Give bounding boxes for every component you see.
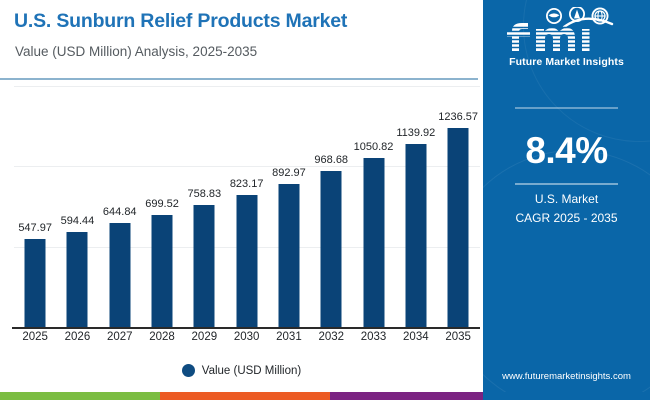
bar-column[interactable]: 1139.92 [395, 86, 437, 327]
fmi-logomark-icon [502, 7, 632, 55]
bar-column[interactable]: 1050.82 [352, 86, 394, 327]
bar-series: 547.97594.44644.84699.52758.83823.17892.… [0, 86, 483, 327]
bar[interactable] [109, 223, 130, 327]
x-tick-label: 2027 [99, 331, 141, 343]
x-axis-labels: 2025202620272028202920302031203220332034… [0, 331, 483, 353]
strip-segment-purple [330, 392, 483, 400]
bar-column[interactable]: 892.97 [268, 86, 310, 327]
page-subtitle: Value (USD Million) Analysis, 2025-2035 [15, 44, 257, 59]
chart-legend[interactable]: Value (USD Million) [0, 364, 483, 377]
bar-column[interactable]: 968.68 [310, 86, 352, 327]
bar[interactable] [448, 128, 469, 327]
cagr-period-label: CAGR 2025 - 2035 [483, 211, 650, 225]
x-tick-label: 2031 [268, 331, 310, 343]
bar[interactable] [405, 144, 426, 327]
bar-value-label: 644.84 [103, 206, 137, 218]
bar-column[interactable]: 1236.57 [437, 86, 479, 327]
bar-value-label: 1139.92 [396, 127, 435, 139]
plot-area: 547.97594.44644.84699.52758.83823.17892.… [0, 86, 483, 328]
website-url[interactable]: www.futuremarketinsights.com [483, 371, 650, 382]
bar-value-label: 823.17 [230, 178, 264, 190]
bar[interactable] [152, 215, 173, 327]
bar-value-label: 892.97 [272, 167, 306, 179]
bar-column[interactable]: 699.52 [141, 86, 183, 327]
bar-value-label: 547.97 [18, 222, 52, 234]
fmi-logo-tagline: Future Market Insights [509, 56, 624, 68]
bar-value-label: 1050.82 [354, 141, 394, 153]
x-tick-label: 2030 [226, 331, 268, 343]
bar[interactable] [321, 171, 342, 327]
strip-segment-green [0, 392, 160, 400]
header-divider [0, 78, 478, 80]
bar-value-label: 968.68 [314, 154, 348, 166]
x-tick-label: 2032 [310, 331, 352, 343]
bar-column[interactable]: 594.44 [56, 86, 98, 327]
panel-divider-top [515, 107, 618, 109]
x-tick-label: 2026 [56, 331, 98, 343]
cagr-value: 8.4% [483, 130, 650, 172]
chart-infographic: U.S. Sunburn Relief Products Market Valu… [0, 0, 650, 400]
bar-value-label: 594.44 [61, 215, 95, 227]
fmi-logo[interactable]: Future Market Insights [483, 7, 650, 69]
chart-header: U.S. Sunburn Relief Products Market Valu… [0, 0, 483, 79]
legend-item-label: Value (USD Million) [202, 365, 301, 377]
bottom-color-strip [0, 392, 650, 400]
x-tick-label: 2029 [183, 331, 225, 343]
cagr-market-label: U.S. Market [483, 192, 650, 206]
bar-value-label: 699.52 [145, 198, 179, 210]
strip-segment-orange [160, 392, 330, 400]
bar-column[interactable]: 823.17 [226, 86, 268, 327]
bar-column[interactable]: 644.84 [99, 86, 141, 327]
chart-pane: U.S. Sunburn Relief Products Market Valu… [0, 0, 483, 392]
bar-value-label: 758.83 [188, 188, 222, 200]
bar[interactable] [25, 239, 46, 327]
strip-segment-blue [483, 392, 650, 400]
x-tick-label: 2025 [14, 331, 56, 343]
bar[interactable] [278, 184, 299, 327]
x-tick-label: 2033 [352, 331, 394, 343]
circle-marker-icon [182, 364, 195, 377]
bar[interactable] [363, 158, 384, 327]
x-tick-label: 2034 [395, 331, 437, 343]
page-title: U.S. Sunburn Relief Products Market [14, 10, 347, 33]
x-axis-line [12, 327, 480, 329]
bar[interactable] [236, 195, 257, 327]
panel-divider-bottom [515, 183, 618, 185]
bar-value-label: 1236.57 [438, 111, 478, 123]
brand-panel: Future Market Insights 8.4% U.S. Market … [483, 0, 650, 392]
bar-column[interactable]: 758.83 [183, 86, 225, 327]
x-tick-label: 2035 [437, 331, 479, 343]
bar-column[interactable]: 547.97 [14, 86, 56, 327]
bar[interactable] [67, 232, 88, 328]
bar[interactable] [194, 205, 215, 327]
x-tick-label: 2028 [141, 331, 183, 343]
